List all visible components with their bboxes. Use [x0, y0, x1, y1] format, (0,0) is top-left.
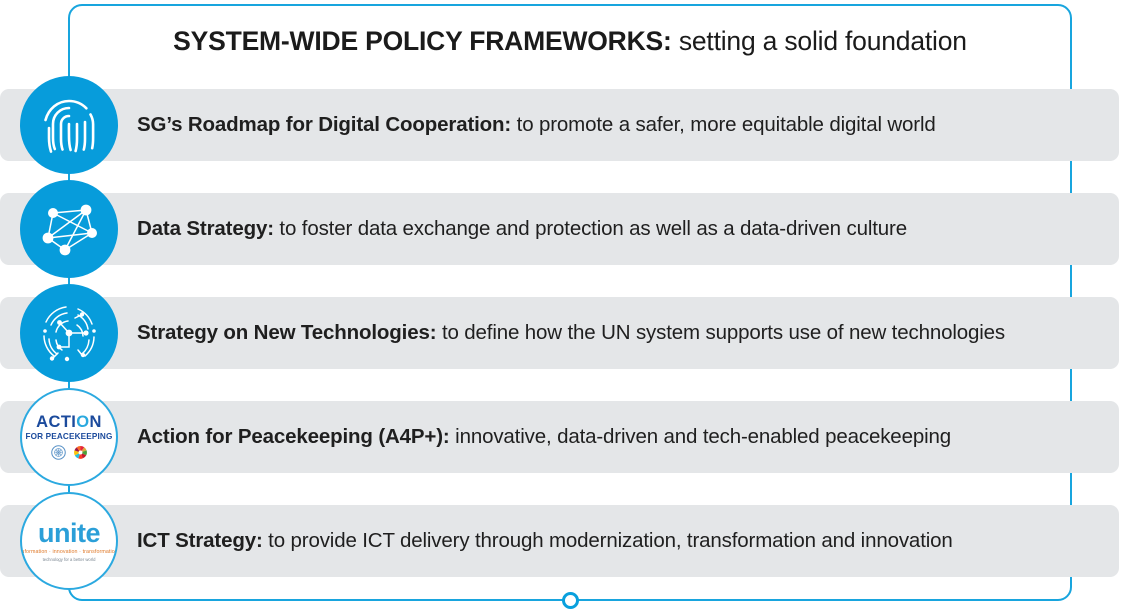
row-title: SG’s Roadmap for Digital Cooperation: [137, 113, 511, 136]
row-title: Data Strategy: [137, 217, 274, 240]
a4p-wordmark: ACTION [36, 414, 102, 431]
list-item[interactable]: ACTION FOR PEACEKEEPING [0, 401, 1140, 473]
row-description: to promote a safer, more equitable digit… [511, 113, 936, 136]
unite-wordmark: unite [38, 520, 100, 547]
row-description: to provide ICT delivery through moderniz… [263, 529, 953, 552]
un-emblem-icon [51, 445, 66, 460]
list-item[interactable]: unite information · innovation · transfo… [0, 505, 1140, 577]
list-item[interactable]: Strategy on New Technologies: to define … [0, 297, 1140, 369]
row-title: Action for Peacekeeping (A4P+): [137, 425, 450, 448]
fingerprint-icon [20, 76, 118, 174]
network-graph-icon [20, 180, 118, 278]
unite-tagline-primary: information · innovation · transformatio… [20, 550, 118, 555]
page-title-light: setting a solid foundation [672, 26, 967, 56]
row-text: Data Strategy: to foster data exchange a… [137, 193, 907, 265]
row-title: ICT Strategy: [137, 529, 263, 552]
row-description: innovative, data-driven and tech-enabled… [450, 425, 951, 448]
a4p-letter-t: T [61, 413, 71, 431]
a4p-letter-c: C [48, 413, 60, 431]
a4p-letter-a: A [36, 413, 48, 431]
row-text: Strategy on New Technologies: to define … [137, 297, 1005, 369]
page-title-bold: SYSTEM-WIDE POLICY FRAMEWORKS: [173, 26, 671, 56]
page-title: SYSTEM-WIDE POLICY FRAMEWORKS: setting a… [68, 26, 1072, 57]
list-item[interactable]: SG’s Roadmap for Digital Cooperation: to… [0, 89, 1140, 161]
frame-bottom-dot [562, 592, 579, 609]
row-text: SG’s Roadmap for Digital Cooperation: to… [137, 89, 936, 161]
row-text: Action for Peacekeeping (A4P+): innovati… [137, 401, 951, 473]
row-description: to define how the UN system supports use… [436, 321, 1005, 344]
row-text: ICT Strategy: to provide ICT delivery th… [137, 505, 953, 577]
a4p-emblems [51, 445, 88, 460]
a4p-letter-n: N [90, 413, 102, 431]
a4p-letter-o: O [76, 413, 89, 431]
list-item[interactable]: Data Strategy: to foster data exchange a… [0, 193, 1140, 265]
action-for-peacekeeping-logo: ACTION FOR PEACEKEEPING [20, 388, 118, 486]
circuit-technology-icon [20, 284, 118, 382]
unite-logo: unite information · innovation · transfo… [20, 492, 118, 590]
row-description: to foster data exchange and protection a… [274, 217, 907, 240]
unite-tagline-secondary: technology for a better world [43, 558, 96, 562]
a4p-subtitle: FOR PEACEKEEPING [25, 433, 112, 441]
sdg-wheel-icon [73, 445, 88, 460]
row-title: Strategy on New Technologies: [137, 321, 436, 344]
